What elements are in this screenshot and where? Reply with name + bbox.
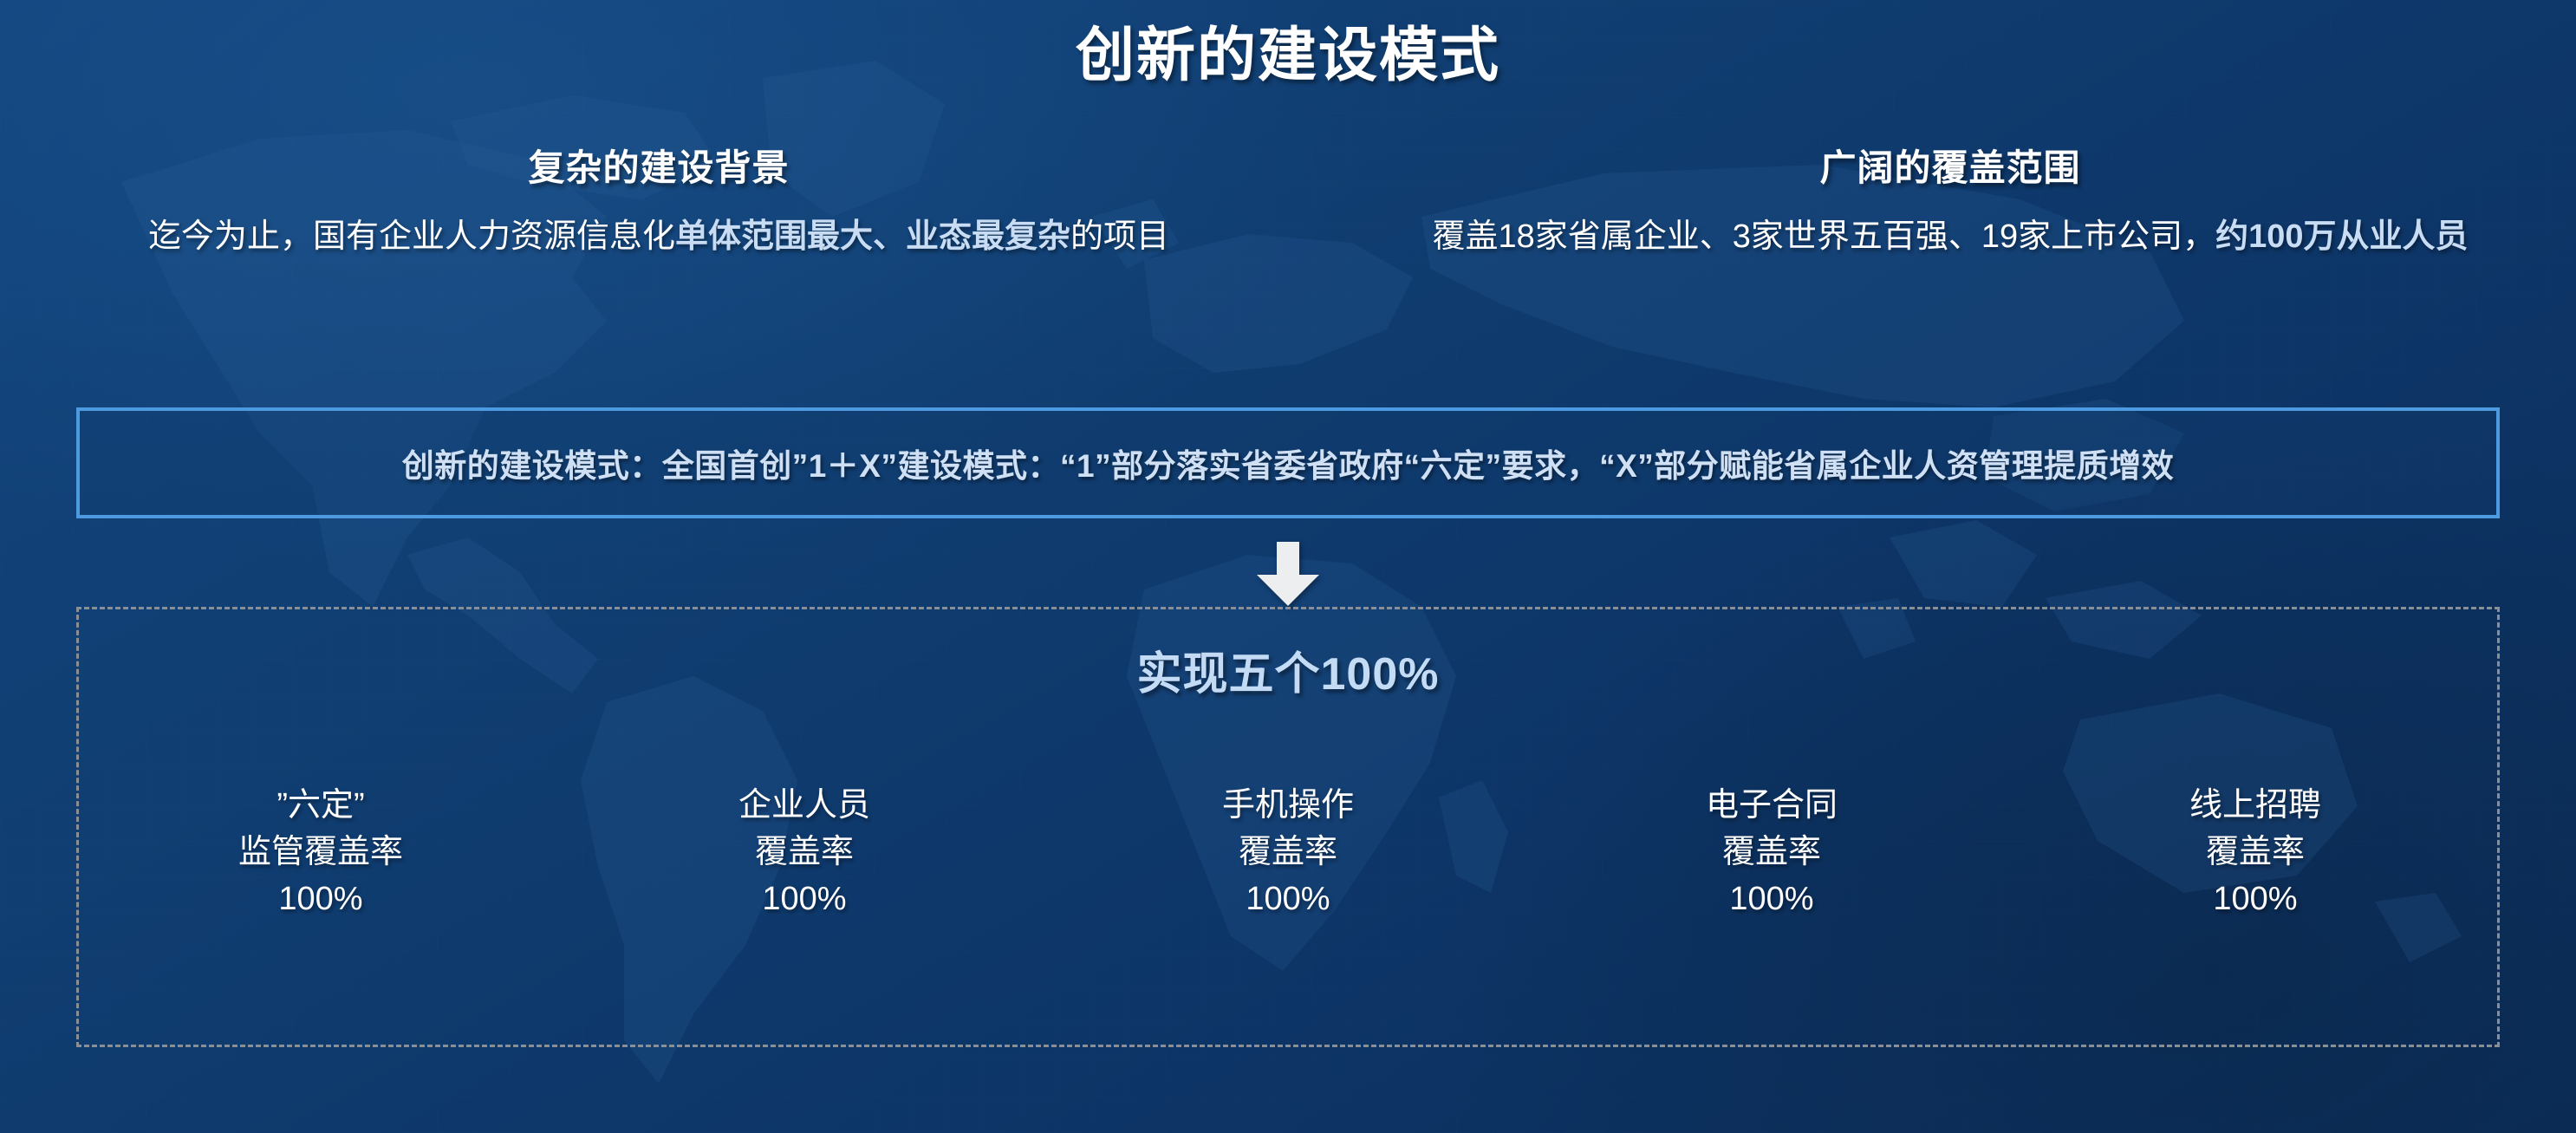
metric-line1: 手机操作: [1046, 783, 1530, 830]
banner-box: 创新的建设模式：全国首创”1＋X”建设模式：“1”部分落实省委省政府“六定”要求…: [76, 407, 2500, 518]
metric-item: ”六定” 监管覆盖率 100%: [79, 783, 563, 923]
column-heading-left: 复杂的建设背景: [52, 139, 1265, 192]
left-body-plain-1: 迄今为止，国有企业人力资源信息化: [148, 218, 675, 255]
arrow-down-icon: [1252, 542, 1324, 606]
metric-line1: 线上招聘: [2013, 783, 2497, 830]
metric-line2: 覆盖率: [563, 830, 1046, 876]
metric-line2: 覆盖率: [1046, 830, 1530, 876]
column-heading-right: 广阔的覆盖范围: [1352, 139, 2548, 192]
column-complex-background: 复杂的建设背景 迄今为止，国有企业人力资源信息化单体范围最大、业态最复杂的项目: [52, 139, 1265, 260]
metric-line2: 覆盖率: [2013, 830, 2497, 876]
column-body-left: 迄今为止，国有企业人力资源信息化单体范围最大、业态最复杂的项目: [52, 214, 1265, 260]
metric-line2: 覆盖率: [1530, 830, 2013, 876]
page-title: 创新的建设模式: [0, 7, 2576, 93]
arrow-down-container: [0, 542, 2576, 606]
right-body-highlight: 约100万从业人员: [2215, 218, 2468, 255]
metric-item: 线上招聘 覆盖率 100%: [2013, 783, 2497, 923]
metric-value: 100%: [79, 876, 563, 923]
panel-title: 实现五个100%: [79, 637, 2497, 702]
metric-line1: 企业人员: [563, 783, 1046, 830]
column-coverage-scope: 广阔的覆盖范围 覆盖18家省属企业、3家世界五百强、19家上市公司，约100万从…: [1352, 139, 2548, 260]
metrics-row: ”六定” 监管覆盖率 100% 企业人员 覆盖率 100% 手机操作 覆盖率 1…: [79, 783, 2497, 923]
left-body-highlight: 单体范围最大、业态最复杂: [675, 218, 1070, 255]
metric-value: 100%: [1046, 876, 1530, 923]
metric-item: 电子合同 覆盖率 100%: [1530, 783, 2013, 923]
metric-line1: ”六定”: [79, 783, 563, 830]
banner-text: 创新的建设模式：全国首创”1＋X”建设模式：“1”部分落实省委省政府“六定”要求…: [402, 440, 2175, 486]
slide-canvas: 创新的建设模式 复杂的建设背景 迄今为止，国有企业人力资源信息化单体范围最大、业…: [0, 0, 2576, 1133]
metric-value: 100%: [1530, 876, 2013, 923]
metric-line2: 监管覆盖率: [79, 830, 563, 876]
metric-line1: 电子合同: [1530, 783, 2013, 830]
column-body-right: 覆盖18家省属企业、3家世界五百强、19家上市公司，约100万从业人员: [1352, 214, 2548, 260]
metric-value: 100%: [2013, 876, 2497, 923]
metric-item: 手机操作 覆盖率 100%: [1046, 783, 1530, 923]
metric-item: 企业人员 覆盖率 100%: [563, 783, 1046, 923]
right-body-plain-1: 覆盖18家省属企业、3家世界五百强、19家上市公司，: [1432, 218, 2215, 255]
left-body-plain-2: 的项目: [1070, 218, 1169, 255]
results-panel: 实现五个100% ”六定” 监管覆盖率 100% 企业人员 覆盖率 100% 手…: [76, 607, 2500, 1047]
metric-value: 100%: [563, 876, 1046, 923]
